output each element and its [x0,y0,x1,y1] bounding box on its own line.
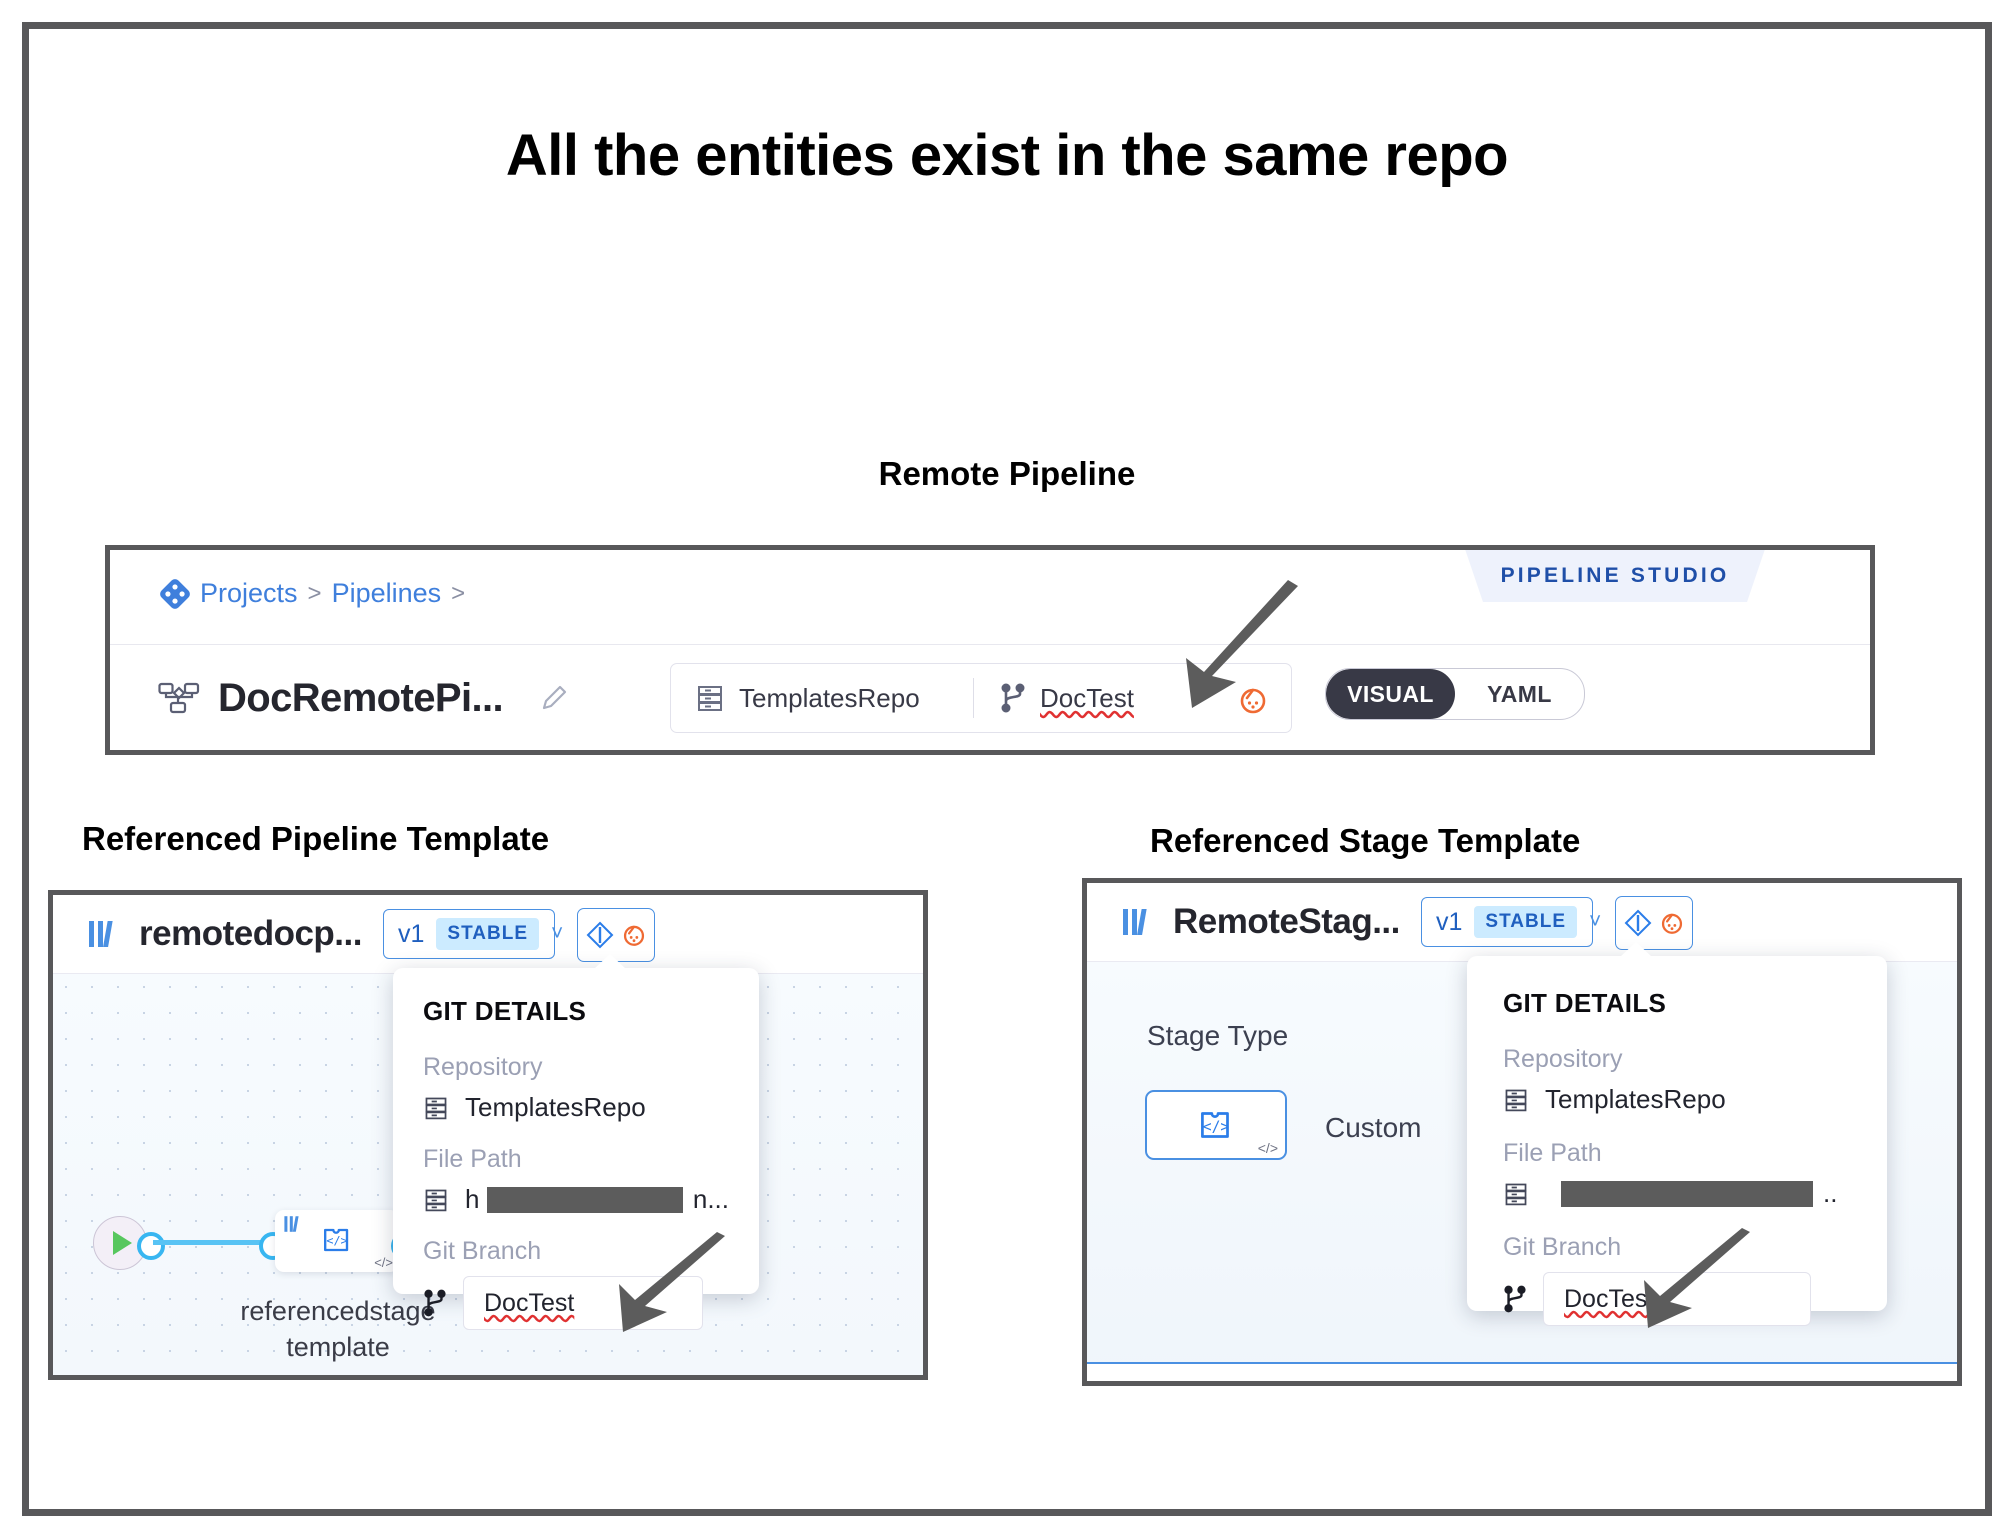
popover-filepath-prefix: h [465,1184,479,1215]
poster-root: All the entities exist in the same repo … [0,0,2014,1538]
version-label: v1 [398,920,424,949]
tab-overview-label: Overview [1173,1379,1290,1386]
git-details-button[interactable] [577,908,655,962]
repo-branch-chip[interactable]: TemplatesRepo DocTest [670,663,1292,733]
repo-chip-repository[interactable]: TemplatesRepo [695,682,965,714]
stage-template-header: RemoteStag... v1 STABLE ˅ [1087,883,1957,962]
version-badge: STABLE [436,918,539,950]
tab-execution[interactable]: Execu [1388,1379,1508,1386]
custom-stage-icon: </> [275,1220,399,1260]
pipeline-template-name: remotedocp... [139,914,362,954]
svg-text:</>: </> [1203,1118,1230,1135]
redaction-bar [487,1187,682,1213]
template-bars-icon [1121,907,1157,937]
stage-template-tabbar: Overview > Execu [1087,1362,1957,1386]
version-selector[interactable]: v1 STABLE ˅ [383,909,555,959]
tab-execution-label: Execu [1430,1379,1508,1386]
version-label: v1 [1436,908,1462,937]
popover-filepath-suffix: .. [1823,1178,1837,1209]
check-icon [1388,1383,1416,1386]
git-branch-icon [1503,1284,1527,1314]
referenced-stage-template-panel: RemoteStag... v1 STABLE ˅ [1082,878,1962,1386]
check-icon [1131,1383,1159,1386]
view-mode-toggle[interactable]: VISUAL YAML [1325,668,1585,720]
chevron-down-icon[interactable]: ˅ [1589,910,1601,934]
connector-dot [137,1232,165,1260]
git-branch-input[interactable]: DocTest [1543,1272,1811,1326]
chip-divider [973,678,974,718]
repository-icon [695,682,725,714]
pipeline-studio-badge: PIPELINE STUDIO [1465,549,1765,602]
reload-from-git-icon[interactable] [621,922,647,948]
page-title: All the entities exist in the same repo [0,122,2014,189]
git-branch-value: DocTest [484,1289,574,1318]
git-branch-icon [1000,682,1026,714]
git-diamond-icon [586,921,614,949]
pipeline-node-icon [158,681,200,715]
version-badge: STABLE [1474,906,1577,938]
breadcrumb-separator-2: > [451,580,465,608]
popover-gitbranch-label: Git Branch [1503,1233,1857,1262]
branch-name: DocTest [1040,683,1134,714]
stage-template-name: RemoteStag... [1173,902,1400,942]
code-corner-icon: </> [374,1255,393,1270]
git-details-popover: GIT DETAILS Repository TemplatesRepo Fil… [393,968,759,1294]
remote-pipeline-topbar: Projects > Pipelines > PIPELINE STUDIO [110,550,1870,645]
popover-repository-value: TemplatesRepo [465,1092,646,1123]
play-icon [113,1231,132,1255]
popover-filepath-label: File Path [1503,1139,1857,1168]
toggle-yaml[interactable]: YAML [1455,669,1584,719]
section-heading-referenced-stage-template: Referenced Stage Template [1150,822,1580,860]
git-details-button[interactable] [1615,896,1693,950]
section-heading-remote-pipeline: Remote Pipeline [0,455,2014,493]
custom-stage-icon: </> [1193,1102,1239,1148]
breadcrumb-separator-1: > [308,580,322,608]
chevron-down-icon[interactable]: ˅ [551,922,563,946]
git-diamond-icon [1624,909,1652,937]
popover-title: GIT DETAILS [1503,988,1857,1019]
breadcrumb: Projects > Pipelines > [160,578,465,609]
tab-separator: > [1330,1379,1346,1386]
popover-repository-label: Repository [1503,1045,1857,1074]
stage-type-value: Custom [1325,1112,1421,1144]
connector-line [153,1240,269,1245]
stage-type-label: Stage Type [1147,1020,1288,1052]
code-corner-icon: </> [1258,1140,1278,1156]
section-heading-referenced-pipeline-template: Referenced Pipeline Template [82,820,549,858]
repo-chip-branch[interactable]: DocTest [1000,682,1134,714]
repository-name: TemplatesRepo [739,683,920,714]
repository-icon [1503,1180,1529,1208]
popover-filepath-suffix: n... [693,1184,729,1215]
remote-pipeline-headerbar: DocRemotePi... TemplatesRepo [110,645,1870,751]
template-bars-icon [87,919,123,949]
breadcrumb-pipelines[interactable]: Pipelines [332,578,442,609]
git-details-popover: GIT DETAILS Repository TemplatesRepo Fil… [1467,956,1887,1311]
svg-text:</>: </> [326,1234,347,1248]
stage-type-custom-option[interactable]: </> </> [1145,1090,1287,1160]
pipeline-studio-badge-label: PIPELINE STUDIO [1465,549,1765,602]
popover-gitbranch-label: Git Branch [423,1237,729,1266]
breadcrumb-projects[interactable]: Projects [200,578,298,609]
edit-pencil-icon[interactable] [537,681,571,715]
repository-icon [423,1186,449,1214]
popover-title: GIT DETAILS [423,996,729,1027]
git-branch-icon [423,1288,447,1318]
canvas-stage-node[interactable]: </> </> [275,1210,399,1272]
version-selector[interactable]: v1 STABLE ˅ [1421,897,1593,947]
reload-from-git-icon[interactable] [1659,910,1685,936]
projects-diamond-icon [160,579,190,609]
git-branch-input[interactable]: DocTest [463,1276,703,1330]
popover-repository-value: TemplatesRepo [1545,1084,1726,1115]
git-branch-value: DocTest [1564,1285,1654,1314]
popover-repository-label: Repository [423,1053,729,1082]
popover-filepath-label: File Path [423,1145,729,1174]
redaction-bar [1561,1181,1813,1207]
remote-pipeline-panel: Projects > Pipelines > PIPELINE STUDIO [105,545,1875,755]
pipeline-template-header: remotedocp... v1 STABLE ˅ [53,895,923,974]
repository-icon [423,1094,449,1122]
referenced-pipeline-template-panel: remotedocp... v1 STABLE ˅ [48,890,928,1380]
tab-overview[interactable]: Overview [1131,1379,1290,1386]
repository-icon [1503,1086,1529,1114]
toggle-visual[interactable]: VISUAL [1326,669,1455,719]
pipeline-name: DocRemotePi... [218,676,503,721]
reload-from-git-icon[interactable] [1237,684,1269,716]
